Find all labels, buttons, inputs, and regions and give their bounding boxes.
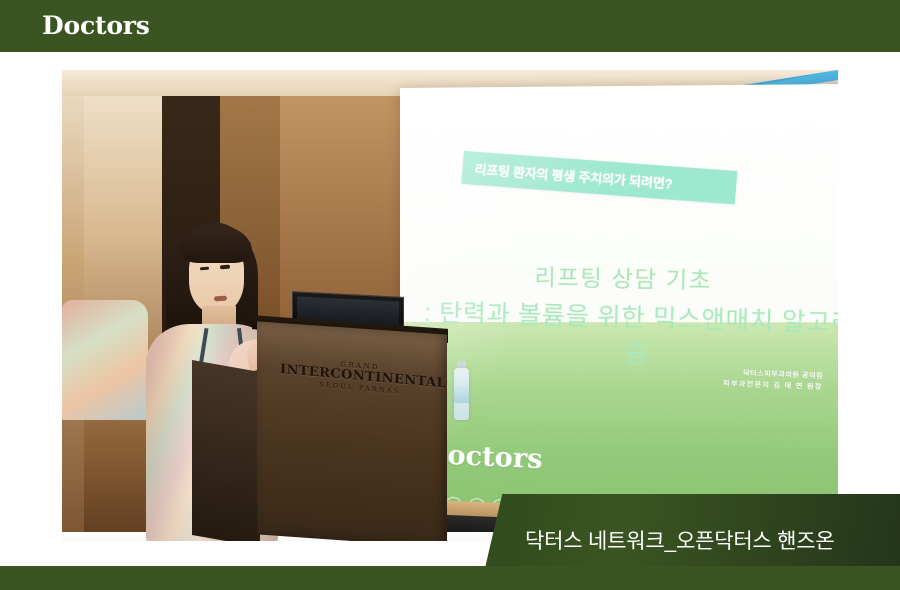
brand-logo: Doctors bbox=[42, 13, 150, 38]
speaker-eye-left bbox=[200, 267, 209, 271]
presentation-photo: 리프팅 환자의 평생 주치의가 되려면? 리프팅 상담 기초 : 탄력과 볼륨을… bbox=[62, 70, 838, 541]
header-bar: Doctors bbox=[0, 0, 900, 52]
podium-side bbox=[192, 360, 260, 541]
bottle-label bbox=[454, 386, 469, 403]
caption-text: 닥터스 네트워크_오픈닥터스 핸즈온 bbox=[525, 525, 835, 555]
podium bbox=[257, 321, 447, 541]
projection-screen: 리프팅 환자의 평생 주치의가 되려면? 리프팅 상담 기초 : 탄력과 볼륨을… bbox=[400, 84, 838, 517]
slide-credits: 닥터스피부과의원 공덕점 피부과전문의 김 태 연 원장 bbox=[723, 368, 823, 393]
audience-foreground bbox=[62, 300, 148, 420]
speaker-eye-right bbox=[220, 265, 230, 269]
footer-bar bbox=[0, 566, 900, 590]
speaker-mouth bbox=[214, 296, 227, 302]
page-root: Doctors 리프팅 환자의 평생 주치의가 되려면? 리프팅 상담 기초 :… bbox=[0, 0, 900, 590]
slide-title-line-2: : 탄력과 볼륨을 위한 믹스앤매치 알고리즘 bbox=[413, 293, 838, 377]
